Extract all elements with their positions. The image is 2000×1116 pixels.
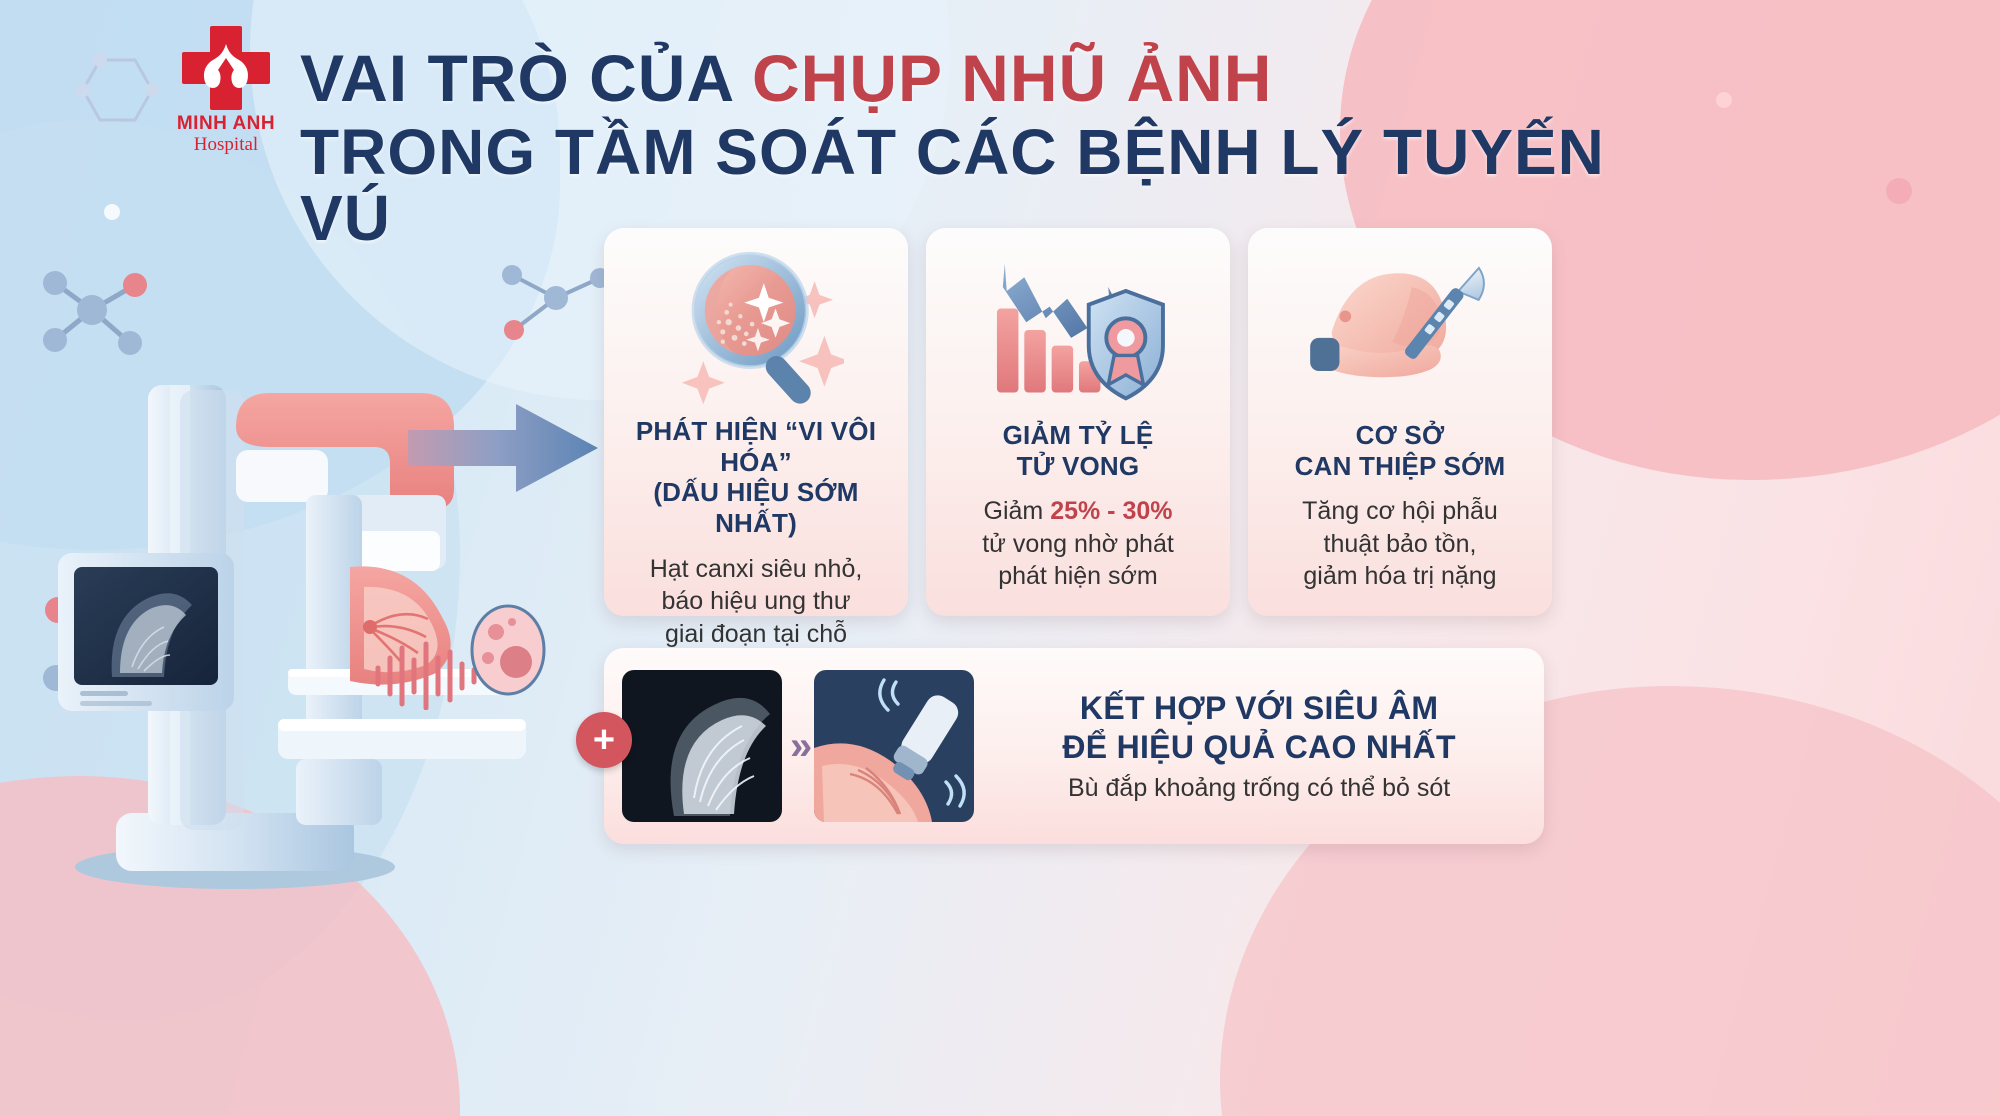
right-arrow-icon [408,398,598,498]
banner-heading: KẾT HỢP VỚI SIÊU ÂM ĐỂ HIỆU QUẢ CAO NHẤT [992,689,1526,766]
combination-banner[interactable]: » [604,648,1544,844]
card-2-heading-line2: TỬ VONG [1017,451,1140,481]
card-1-heading: PHÁT HIỆN “VI VÔI HÓA” (DẤU HIỆU SỚM NHẤ… [618,416,894,539]
hospital-cross-icon [182,26,270,110]
title-line-1: VAI TRÒ CỦA CHỤP NHŨ ẢNH [300,44,1700,113]
banner-subtext: Bù đắp khoảng trống có thể bỏ sót [992,774,1526,803]
benefit-cards: PHÁT HIỆN “VI VÔI HÓA” (DẤU HIỆU SỚM NHẤ… [604,228,1552,616]
card-mortality-reduction[interactable]: GIẢM TỶ LỆ TỬ VONG Giảm 25% - 30% tử von… [926,228,1230,616]
card-3-heading-line2: CAN THIỆP SỚM [1295,451,1506,481]
card-2-body-highlight: 25% - 30% [1050,497,1172,525]
card-2-body-line2: tử vong nhờ phát [982,530,1174,558]
card-1-heading-line1: PHÁT HIỆN “VI VÔI HÓA” [636,416,876,477]
title-navy-part: VAI TRÒ CỦA [300,41,752,115]
title-red-part: CHỤP NHŨ ẢNH [752,41,1272,115]
card-microcalcification[interactable]: PHÁT HIỆN “VI VÔI HÓA” (DẤU HIỆU SỚM NHẤ… [604,228,908,616]
hand-breast-scalpel-icon [1262,246,1538,416]
banner-text-block: KẾT HỢP VỚI SIÊU ÂM ĐỂ HIỆU QUẢ CAO NHẤT… [992,689,1526,803]
brand-sub: Hospital [170,135,282,155]
brand-logo: MINH ANH Hospital [170,26,282,155]
card-3-heading: CƠ SỞ CAN THIỆP SỚM [1295,420,1506,481]
card-1-body: Hạt canxi siêu nhỏ, báo hiệu ung thư gia… [650,553,863,651]
cell-icon [466,600,550,700]
brand-name: MINH ANH [170,113,282,135]
decor-dot-4 [1716,92,1732,108]
card-3-heading-line1: CƠ SỞ [1356,420,1445,450]
card-3-body: Tăng cơ hội phẫu thuật bảo tồn, giảm hóa… [1302,495,1498,593]
card-1-heading-line2: (DẤU HIỆU SỚM NHẤT) [653,477,858,538]
magnifier-microcalcification-icon [618,246,894,412]
card-2-heading: GIẢM TỶ LỆ TỬ VONG [1003,420,1154,481]
card-1-body-line1: Hạt canxi siêu nhỏ, [650,555,863,583]
card-2-heading-line1: GIẢM TỶ LỆ [1003,420,1154,450]
banner-heading-line1: KẾT HỢP VỚI SIÊU ÂM [1080,690,1438,726]
card-1-body-line3: giai đoạn tại chỗ [665,620,847,648]
card-2-body-line3: phát hiện sớm [998,562,1158,590]
ultrasound-thumbnail [814,670,974,822]
card-1-body-line2: báo hiệu ung thư [661,587,850,615]
mammography-machine-illustration [20,195,580,895]
declining-chart-shield-icon [940,246,1216,416]
card-2-body: Giảm 25% - 30% tử vong nhờ phát phát hiệ… [982,495,1174,593]
molecule-hexagon-icon [60,40,180,150]
decor-dot-3 [1886,178,1912,204]
chevron-right-icon: » [790,724,806,769]
plus-badge: + [576,712,632,768]
card-3-body-line3: giảm hóa trị nặng [1303,562,1496,590]
card-3-body-line1: Tăng cơ hội phẫu [1302,497,1498,525]
card-2-body-prefix: Giảm [984,497,1051,525]
infographic-canvas: MINH ANH Hospital VAI TRÒ CỦA CHỤP NHŨ Ả… [0,0,2000,1116]
banner-heading-line2: ĐỂ HIỆU QUẢ CAO NHẤT [1062,729,1456,765]
mammogram-thumbnail [622,670,782,822]
card-early-intervention[interactable]: CƠ SỞ CAN THIỆP SỚM Tăng cơ hội phẫu thu… [1248,228,1552,616]
card-3-body-line2: thuật bảo tồn, [1324,530,1477,558]
